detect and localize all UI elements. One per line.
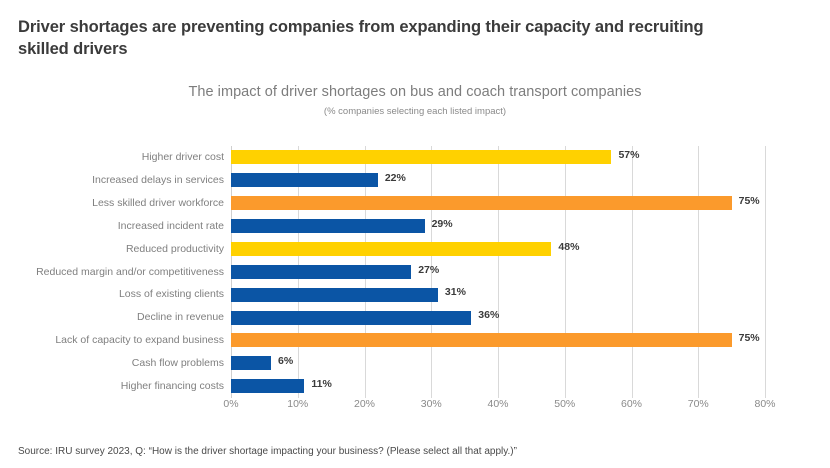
category-label: Reduced productivity xyxy=(0,238,224,261)
bar-value-label: 75% xyxy=(739,332,760,344)
category-label: Increased delays in services xyxy=(0,169,224,192)
bar-value-label: 22% xyxy=(385,172,406,184)
bar-row[interactable]: 57% xyxy=(231,146,830,169)
bar-row[interactable]: 36% xyxy=(231,306,830,329)
category-label: Cash flow problems xyxy=(0,352,224,375)
x-tick-label: 40% xyxy=(487,398,508,410)
bar-value-label: 29% xyxy=(432,218,453,230)
bar-value-label: 57% xyxy=(618,149,639,161)
chart-page: Driver shortages are preventing companie… xyxy=(0,0,830,468)
category-axis-labels: Higher driver costIncreased delays in se… xyxy=(0,146,224,398)
bar[interactable] xyxy=(231,150,611,164)
bar[interactable] xyxy=(231,288,438,302)
category-label: Higher driver cost xyxy=(0,146,224,169)
x-tick-label: 20% xyxy=(354,398,375,410)
category-label: Higher financing costs xyxy=(0,375,224,398)
x-tick-label: 50% xyxy=(554,398,575,410)
plot-area: 57%22%75%29%48%27%31%36%75%6%11% xyxy=(231,146,765,398)
bar-row[interactable]: 29% xyxy=(231,215,830,238)
bar-row[interactable]: 31% xyxy=(231,283,830,306)
bar-series: 57%22%75%29%48%27%31%36%75%6%11% xyxy=(231,146,765,398)
category-label: Reduced margin and/or competitiveness xyxy=(0,261,224,284)
page-headline: Driver shortages are preventing companie… xyxy=(18,17,718,61)
bar-row[interactable]: 6% xyxy=(231,352,830,375)
chart-title: The impact of driver shortages on bus an… xyxy=(0,84,830,100)
bar-value-label: 6% xyxy=(278,355,293,367)
bar-row[interactable]: 27% xyxy=(231,261,830,284)
bar-value-label: 27% xyxy=(418,264,439,276)
bar-value-label: 31% xyxy=(445,286,466,298)
chart-subtitle: (% companies selecting each listed impac… xyxy=(0,106,830,117)
x-tick-label: 60% xyxy=(621,398,642,410)
bar[interactable] xyxy=(231,196,732,210)
x-tick-label: 0% xyxy=(223,398,238,410)
bar[interactable] xyxy=(231,333,732,347)
bar[interactable] xyxy=(231,265,411,279)
bar-row[interactable]: 75% xyxy=(231,329,830,352)
bar[interactable] xyxy=(231,311,471,325)
bar-value-label: 36% xyxy=(478,309,499,321)
bar-row[interactable]: 75% xyxy=(231,192,830,215)
x-axis-ticks: 0%10%20%30%40%50%60%70%80% xyxy=(231,398,765,416)
bar-row[interactable]: 48% xyxy=(231,238,830,261)
source-note: Source: IRU survey 2023, Q: “How is the … xyxy=(18,446,517,457)
category-label: Less skilled driver workforce xyxy=(0,192,224,215)
bar-value-label: 75% xyxy=(739,195,760,207)
category-label: Loss of existing clients xyxy=(0,283,224,306)
category-label: Increased incident rate xyxy=(0,215,224,238)
bar-row[interactable]: 22% xyxy=(231,169,830,192)
bar-value-label: 11% xyxy=(311,378,331,390)
bar[interactable] xyxy=(231,242,551,256)
x-tick-label: 80% xyxy=(754,398,775,410)
bar-row[interactable]: 11% xyxy=(231,375,830,398)
x-tick-label: 70% xyxy=(688,398,709,410)
x-tick-label: 30% xyxy=(421,398,442,410)
x-tick-label: 10% xyxy=(287,398,308,410)
category-label: Lack of capacity to expand business xyxy=(0,329,224,352)
category-label: Decline in revenue xyxy=(0,306,224,329)
bar[interactable] xyxy=(231,219,425,233)
bar[interactable] xyxy=(231,173,378,187)
bar[interactable] xyxy=(231,379,304,393)
bar-value-label: 48% xyxy=(558,241,579,253)
bar[interactable] xyxy=(231,356,271,370)
